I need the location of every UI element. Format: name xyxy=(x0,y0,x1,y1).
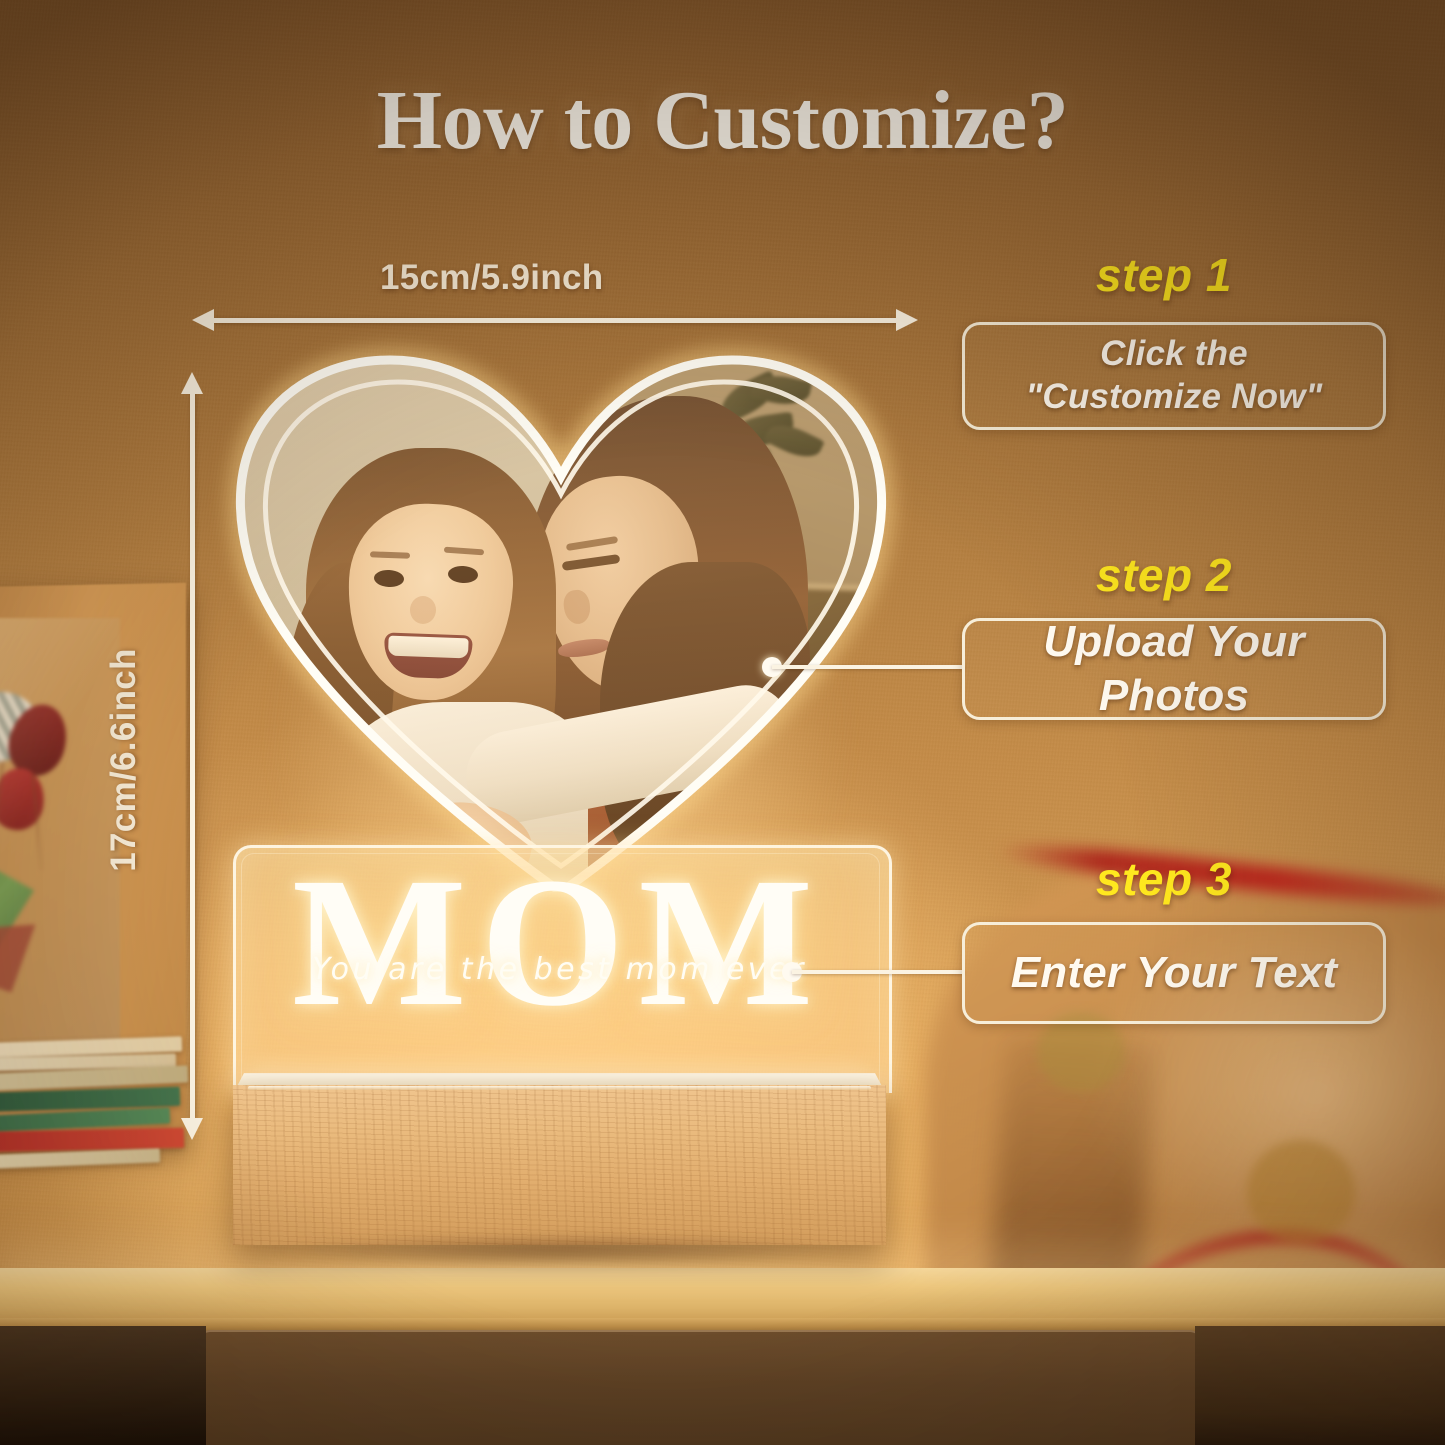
infographic-canvas: MOM You are the best mom ever How to Cus… xyxy=(0,0,1445,1445)
scene-vignette xyxy=(0,0,1445,1445)
